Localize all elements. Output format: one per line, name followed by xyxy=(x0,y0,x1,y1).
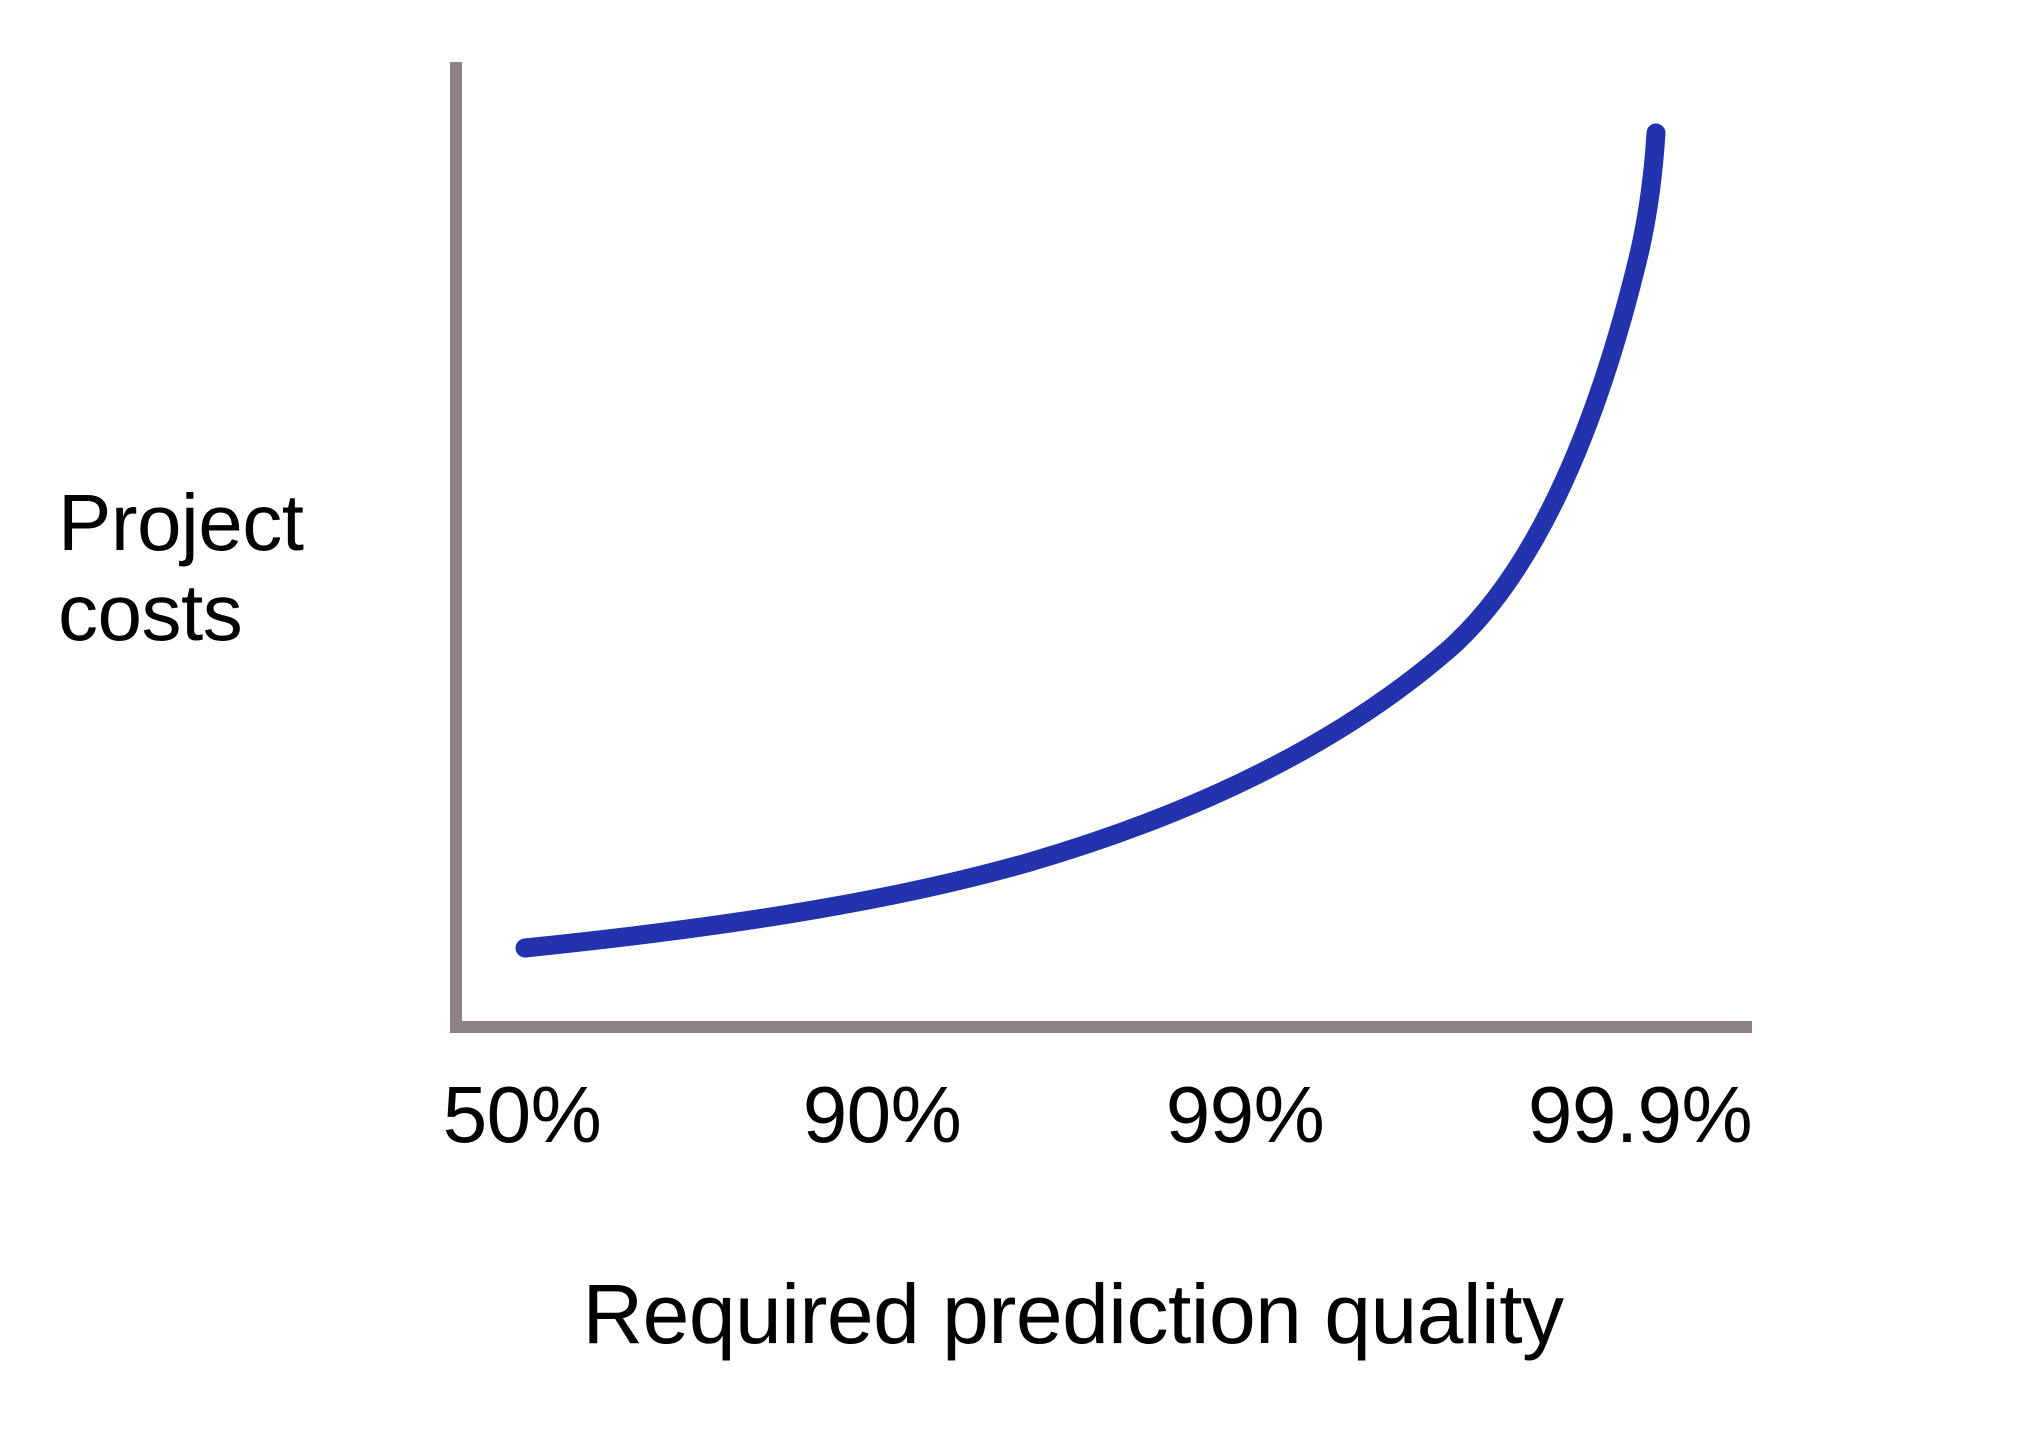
x-tick-label-99: 99% xyxy=(1166,1075,1325,1155)
x-axis-title: Required prediction quality xyxy=(0,1272,2036,1356)
x-tick-label-50: 50% xyxy=(443,1075,602,1155)
chart-canvas: Project costs 50% 90% 99% 99.9% Required… xyxy=(0,0,2036,1444)
x-tick-label-99-9: 99.9% xyxy=(1528,1075,1752,1155)
x-tick-label-90: 90% xyxy=(803,1075,962,1155)
cost-curve-line xyxy=(525,133,1656,948)
plot-area xyxy=(0,0,2036,1444)
